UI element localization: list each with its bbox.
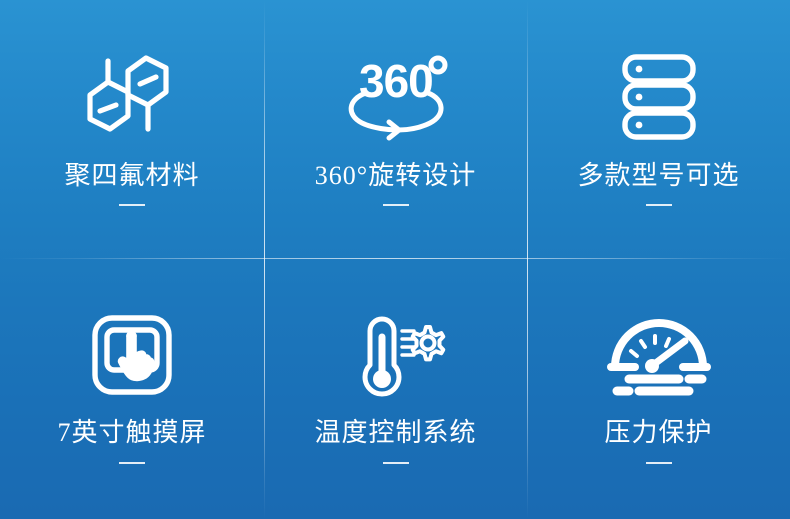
svg-text:360: 360	[359, 55, 433, 107]
label-underline	[119, 204, 145, 206]
feature-label: 360°旋转设计	[315, 162, 476, 191]
feature-label: 聚四氟材料	[64, 162, 199, 191]
feature-cell-ptfe-material[interactable]: 聚四氟材料	[0, 0, 264, 258]
feature-label: 7英寸触摸屏	[57, 419, 206, 448]
feature-cell-temperature-control[interactable]: 温度控制系统	[264, 258, 527, 519]
feature-label: 多款型号可选	[577, 162, 739, 191]
360-degree-rotation-icon: 360	[336, 48, 456, 146]
thermometer-gear-icon	[344, 309, 448, 401]
feature-cell-multiple-models[interactable]: 多款型号可选	[527, 0, 790, 258]
label-underline	[646, 204, 672, 206]
feature-label: 压力保护	[604, 419, 712, 448]
feature-label: 温度控制系统	[314, 419, 476, 448]
feature-cell-touchscreen[interactable]: 7英寸触摸屏	[0, 258, 264, 519]
label-underline	[383, 462, 409, 464]
label-underline	[646, 462, 672, 464]
label-underline	[119, 462, 145, 464]
label-underline	[383, 204, 409, 206]
feature-cell-rotation-design[interactable]: 360 360°旋转设计	[264, 0, 527, 258]
feature-banner: 聚四氟材料 360 360°旋转设计	[0, 0, 790, 519]
molecule-hexagons-icon	[76, 48, 188, 146]
pressure-gauge-icon	[605, 309, 713, 401]
feature-grid: 聚四氟材料 360 360°旋转设计	[0, 0, 790, 519]
server-rack-icon	[615, 48, 703, 146]
feature-cell-pressure-protection[interactable]: 压力保护	[527, 258, 790, 519]
touchscreen-hand-icon	[88, 309, 176, 401]
